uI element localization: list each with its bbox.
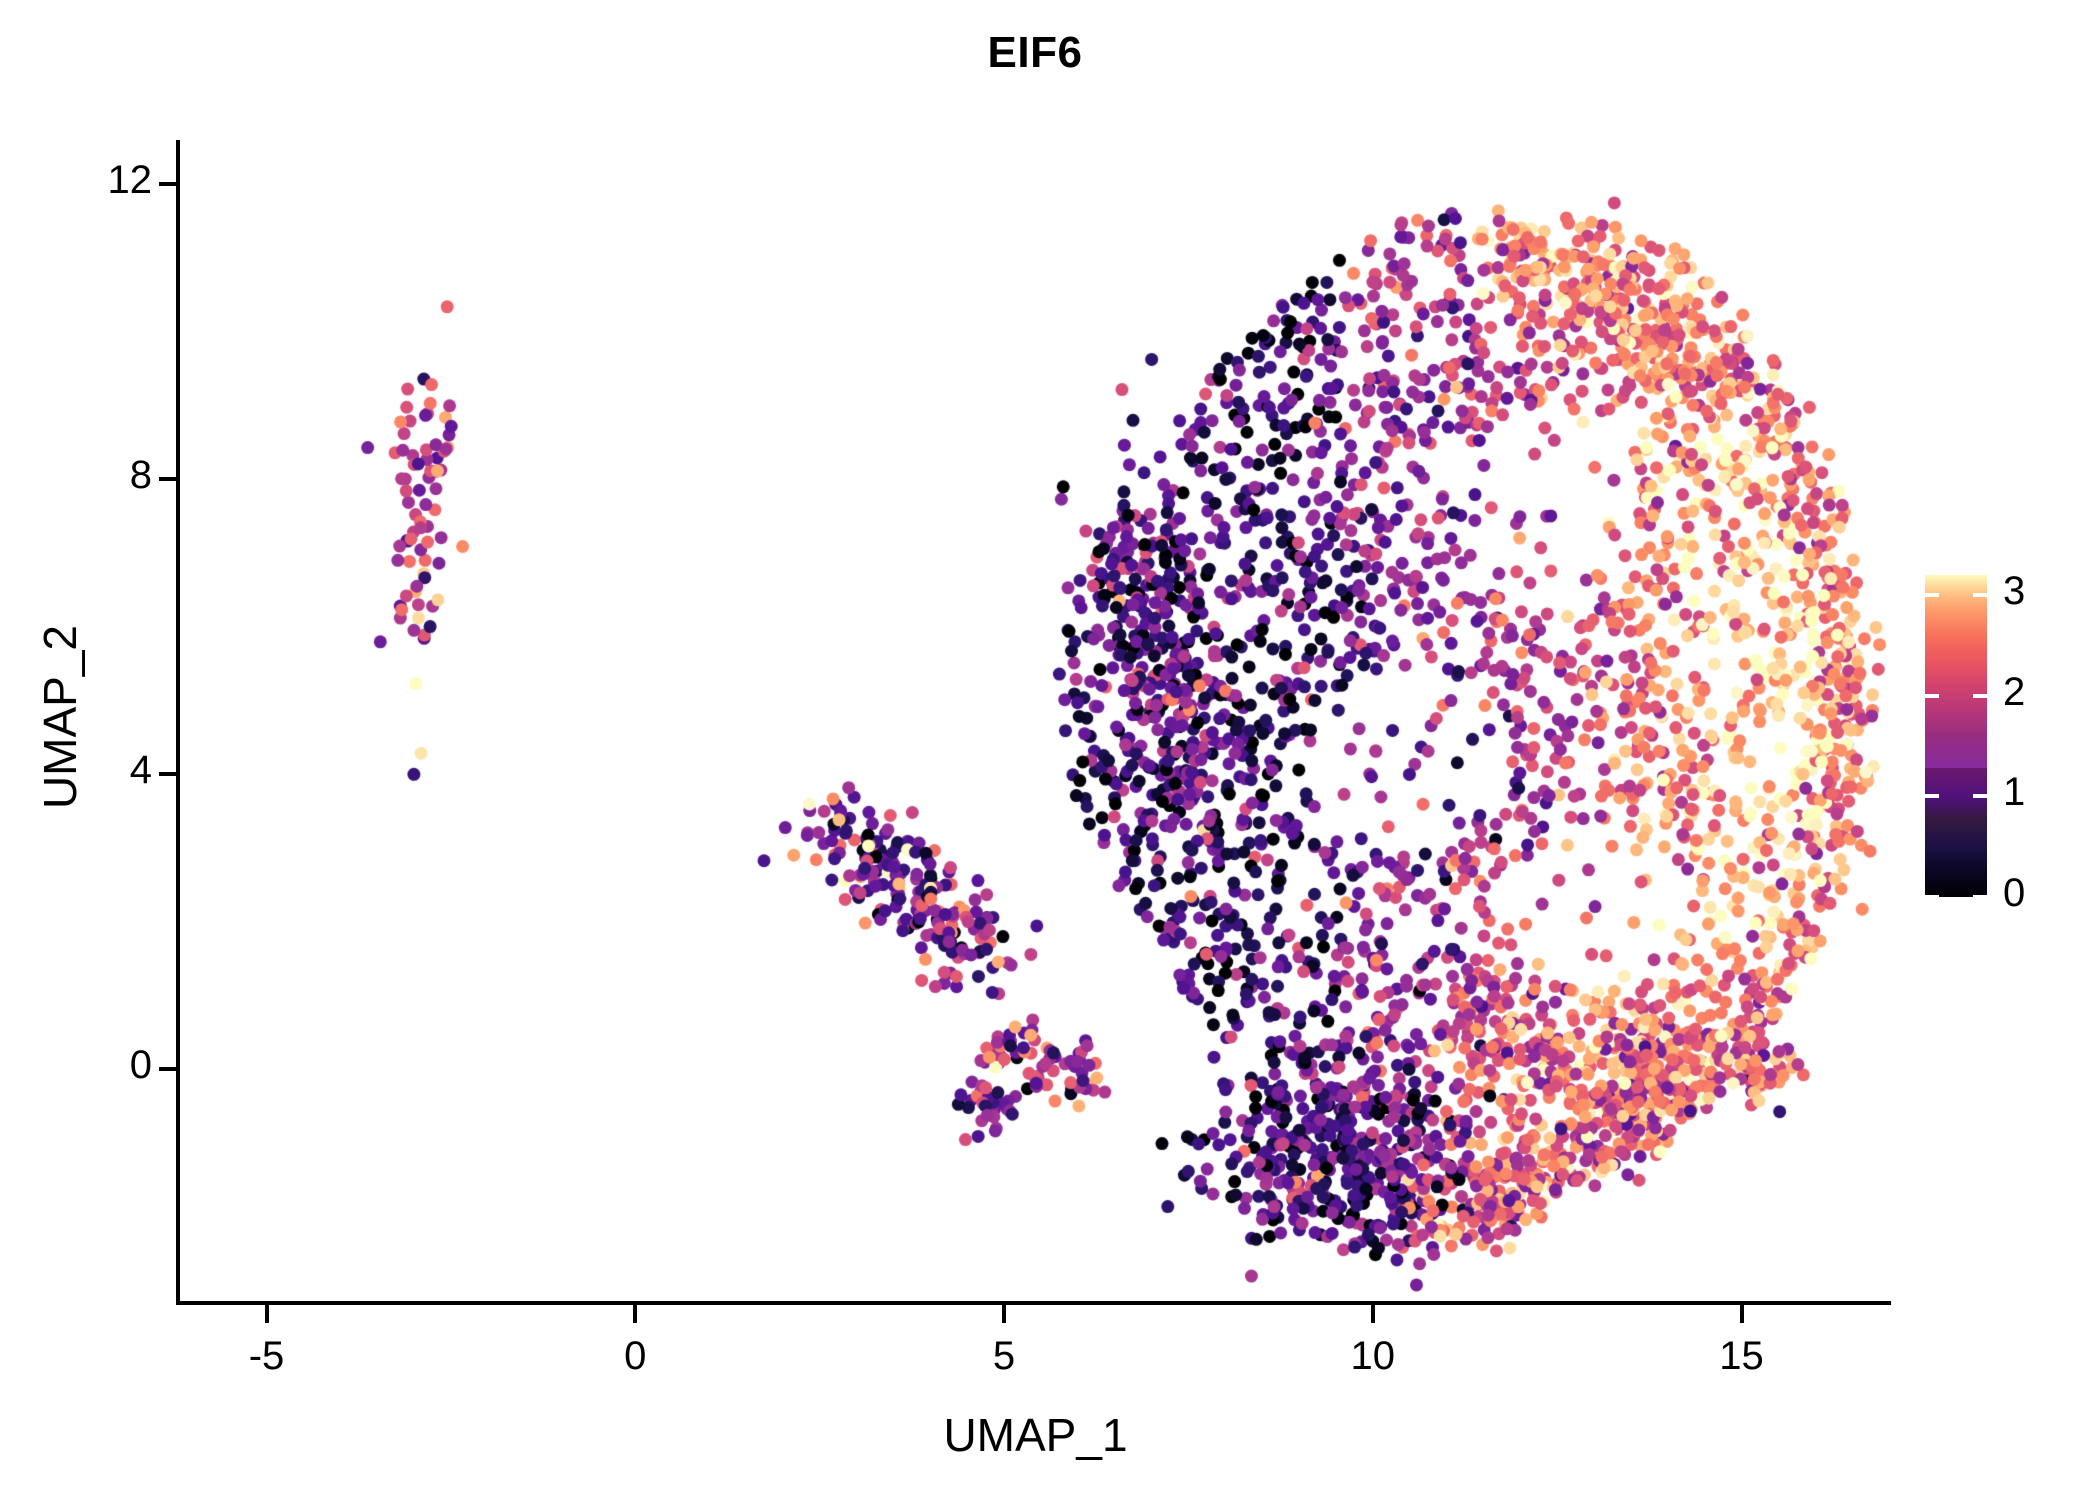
x-tick-mark [1002, 1305, 1006, 1323]
colorbar-gradient [1925, 575, 1987, 897]
colorbar-tick-mark [1973, 895, 1987, 899]
x-tick-label: 0 [555, 1334, 715, 1379]
colorbar-tick-mark [1925, 794, 1939, 798]
y-tick-mark [159, 1067, 177, 1071]
colorbar-legend: 0123 [1925, 575, 2075, 900]
scatter-plot-figure: EIF6 04812 -5051015 UMAP_1 UMAP_2 0123 [0, 0, 2100, 1500]
colorbar-tick-mark [1973, 694, 1987, 698]
y-tick-mark [159, 772, 177, 776]
x-axis-title: UMAP_1 [178, 1408, 1893, 1462]
y-tick-label: 12 [60, 158, 152, 203]
colorbar-tick-mark [1925, 593, 1939, 597]
x-tick-label: 15 [1662, 1334, 1822, 1379]
x-tick-mark [1371, 1305, 1375, 1323]
x-tick-mark [633, 1305, 637, 1323]
y-tick-label: 8 [60, 453, 152, 498]
x-axis-line [176, 1301, 1891, 1305]
y-tick-mark [159, 182, 177, 186]
x-tick-label: 5 [924, 1334, 1084, 1379]
x-tick-mark [265, 1305, 269, 1323]
y-tick-mark [159, 477, 177, 481]
x-tick-mark [1740, 1305, 1744, 1323]
colorbar-tick-label: 2 [2003, 670, 2025, 715]
colorbar-tick-label: 1 [2003, 770, 2025, 815]
page-title: EIF6 [0, 28, 2070, 78]
colorbar-tick-label: 0 [2003, 871, 2025, 916]
colorbar-tick-mark [1973, 593, 1987, 597]
colorbar-tick-label: 3 [2003, 569, 2025, 614]
x-tick-label: -5 [187, 1334, 347, 1379]
y-axis-line [176, 140, 180, 1305]
colorbar-tick-mark [1925, 694, 1939, 698]
scatter-points-layer [178, 140, 1948, 1305]
y-axis-title: UMAP_2 [33, 517, 87, 917]
colorbar-tick-mark [1925, 895, 1939, 899]
colorbar-tick-mark [1973, 794, 1987, 798]
x-tick-label: 10 [1293, 1334, 1453, 1379]
y-tick-label: 0 [60, 1043, 152, 1088]
